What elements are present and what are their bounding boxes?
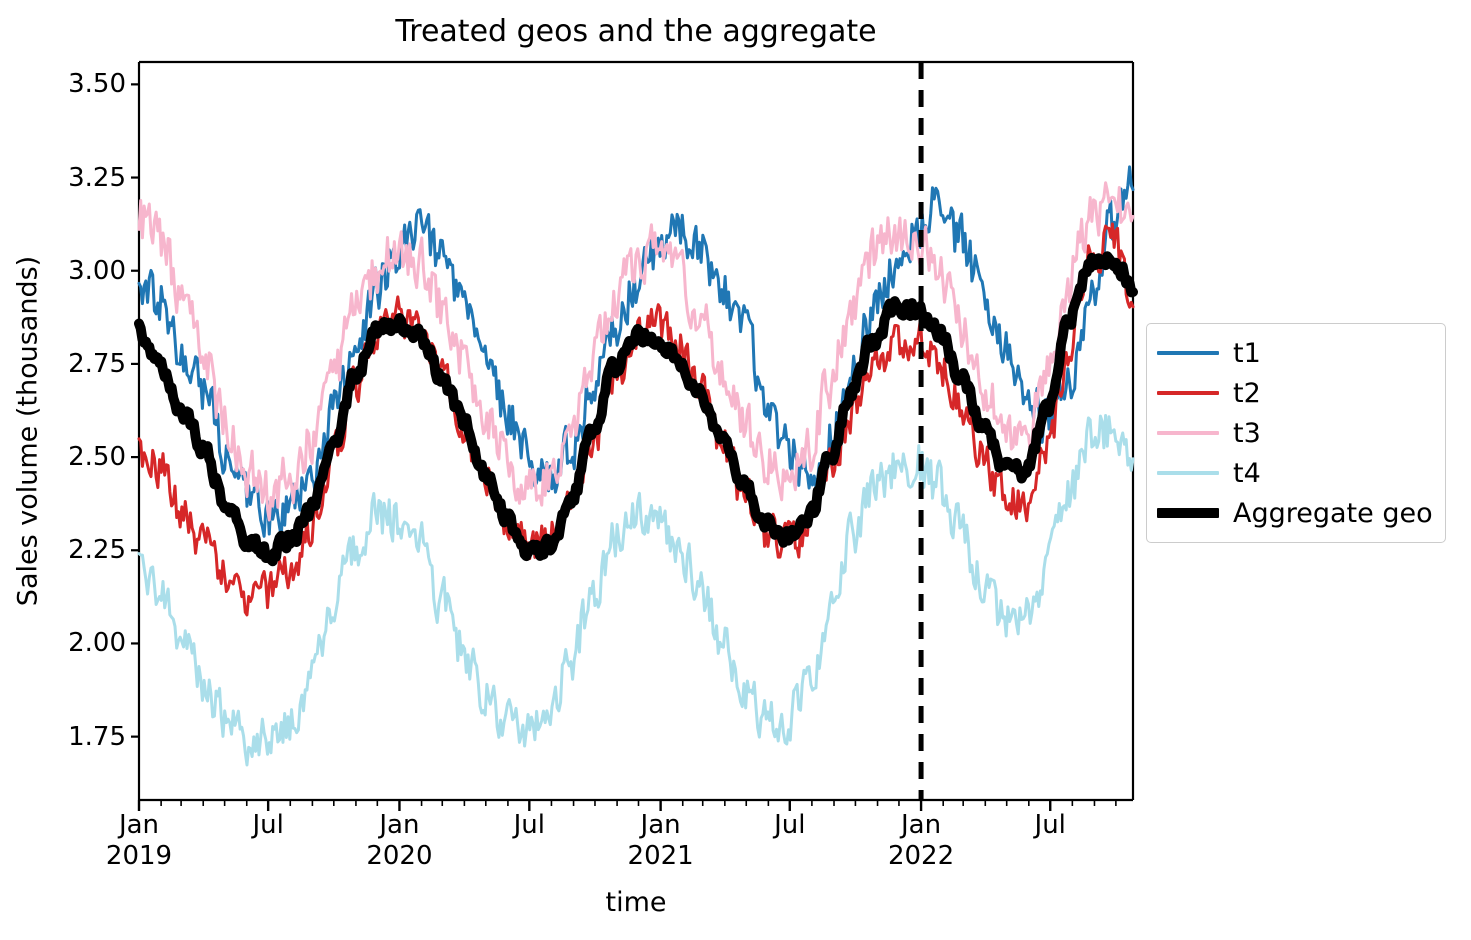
legend-item-t4[interactable]: t4	[1157, 453, 1433, 493]
axis-tick-marks	[131, 84, 1116, 811]
legend-swatch-aggregate-geo	[1157, 495, 1219, 531]
legend-swatch-t2	[1157, 375, 1219, 411]
legend-swatch-t3	[1157, 415, 1219, 451]
legend-swatch-t4	[1157, 455, 1219, 491]
legend-label: t1	[1233, 338, 1261, 369]
legend-swatch-t1	[1157, 335, 1219, 371]
legend-item-aggregate-geo[interactable]: Aggregate geo	[1157, 493, 1433, 533]
legend-item-t3[interactable]: t3	[1157, 413, 1433, 453]
series-line-t3	[139, 183, 1133, 520]
legend-item-t2[interactable]: t2	[1157, 373, 1433, 413]
legend-label: Aggregate geo	[1233, 498, 1433, 529]
series-line-t4	[139, 415, 1133, 765]
figure-canvas: Treated geos and the aggregate Sales vol…	[0, 0, 1471, 940]
legend-label: t2	[1233, 378, 1261, 409]
legend-label: t4	[1233, 458, 1261, 489]
legend-label: t3	[1233, 418, 1261, 449]
legend[interactable]: t1t2t3t4Aggregate geo	[1146, 323, 1446, 543]
series-lines	[139, 167, 1133, 765]
legend-item-t1[interactable]: t1	[1157, 333, 1433, 373]
